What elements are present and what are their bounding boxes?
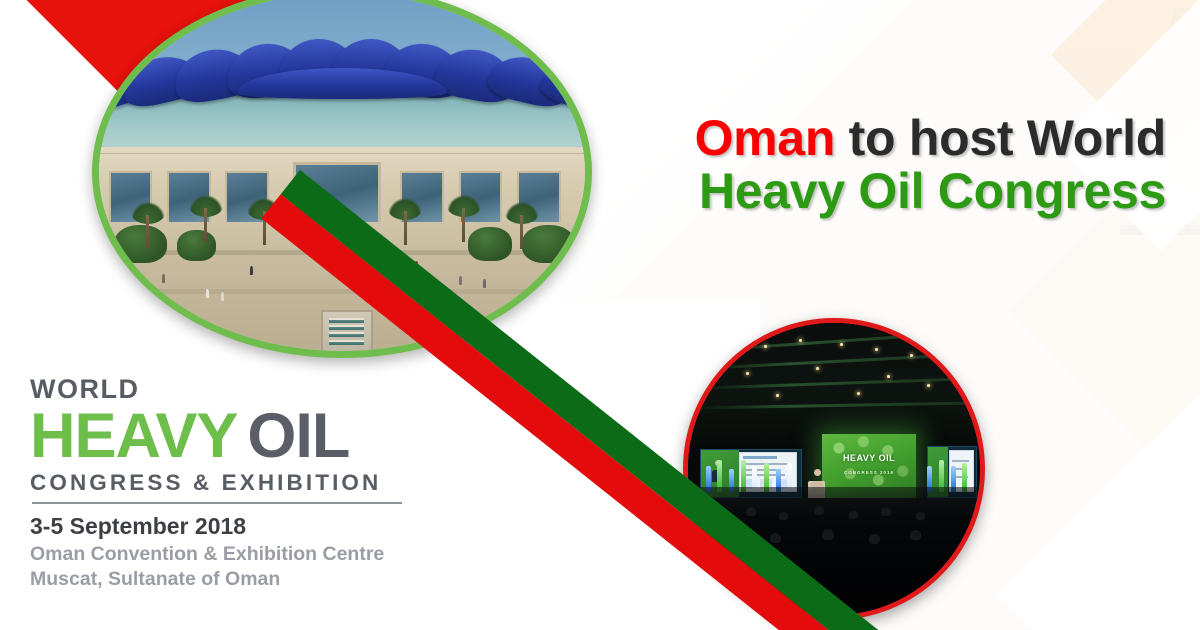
logo-divider [32, 502, 402, 504]
headline-rest: to host World [835, 110, 1166, 166]
headline-line-1: Oman to host World [695, 112, 1166, 165]
headline: Oman to host World Heavy Oil Congress [695, 112, 1166, 218]
photo-convention-centre [92, 0, 592, 358]
logo-world-text: WORLD [30, 376, 450, 403]
wave-roof-canopy [92, 32, 592, 150]
water-stairway [323, 312, 372, 351]
headline-line-2: Heavy Oil Congress [695, 165, 1166, 218]
event-venue-line-1: Oman Convention & Exhibition Centre [30, 542, 450, 567]
logo-main-text: HEAVYOIL [30, 405, 450, 468]
event-venue-line-2: Muscat, Sultanate of Oman [30, 567, 450, 592]
promo-banner: HEAVY OIL CONGRESS 2016 [0, 0, 1200, 630]
backdrop-subtitle: CONGRESS 2016 [822, 470, 915, 475]
event-date: 3-5 September 2018 [30, 513, 450, 540]
stage-speaker [814, 469, 821, 476]
hall-ceiling [688, 323, 980, 446]
logo-oil-text: OIL [247, 401, 349, 471]
event-logo: WORLD HEAVYOIL CONGRESS & EXHIBITION 3-5… [30, 376, 450, 592]
backdrop-title: HEAVY OIL [822, 453, 915, 463]
logo-subtitle: CONGRESS & EXHIBITION [30, 472, 450, 495]
logo-heavy-text: HEAVY [30, 401, 237, 471]
headline-highlight: Oman [695, 110, 836, 166]
